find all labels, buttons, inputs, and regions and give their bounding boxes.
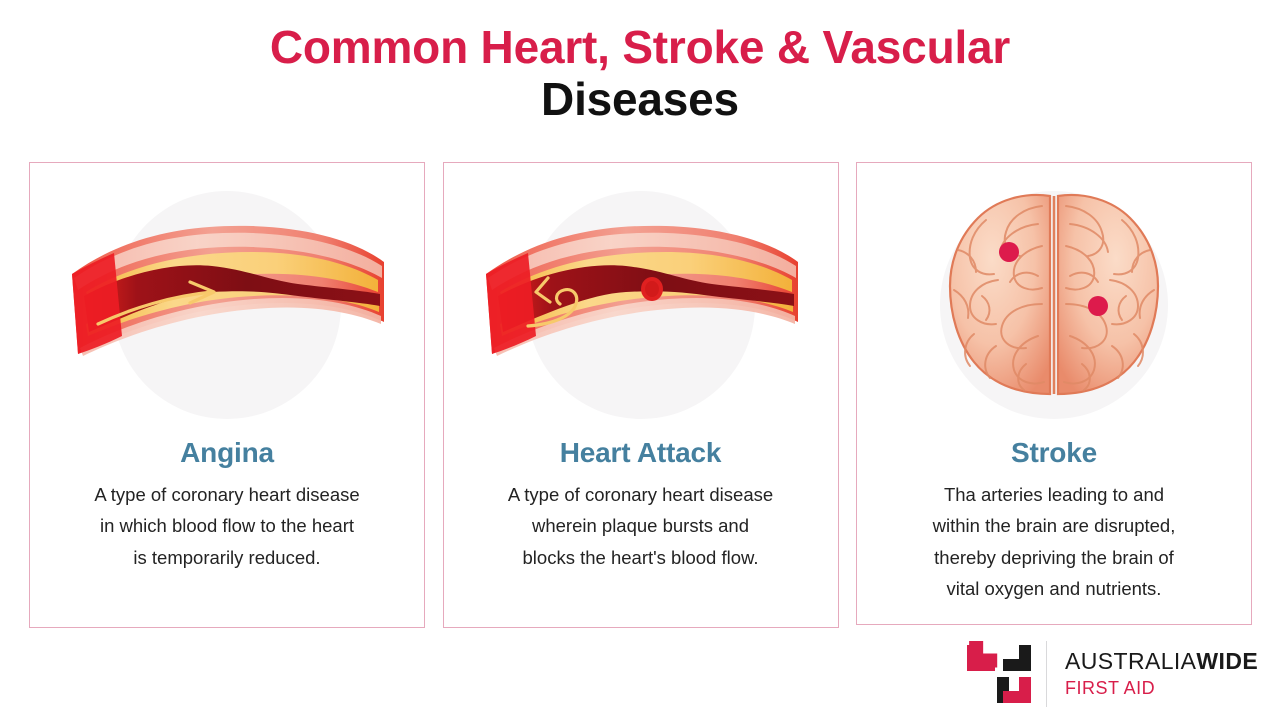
stroke-site-marker <box>1088 296 1108 316</box>
stroke-site-marker <box>999 242 1019 262</box>
logo-wordmark: AUSTRALIAWIDE FIRST AID <box>1065 649 1258 699</box>
card-body-line: A type of coronary heart disease <box>94 479 359 510</box>
disease-card-heart-attack: Heart Attack A type of coronary heart di… <box>443 162 839 628</box>
card-title-stroke: Stroke <box>1011 437 1097 469</box>
card-body-angina: A type of coronary heart disease in whic… <box>76 479 377 573</box>
page-title-line-2: Diseases <box>0 74 1280 126</box>
logo-wide-text: WIDE <box>1196 648 1258 674</box>
card-body-line: wherein plaque bursts and <box>508 510 773 541</box>
card-illustration-angina <box>29 163 425 425</box>
disease-card-angina: Angina A type of coronary heart disease … <box>29 162 425 628</box>
disease-cards-row: Angina A type of coronary heart disease … <box>29 162 1252 629</box>
logo-divider <box>1046 641 1047 707</box>
disease-card-stroke: Stroke Tha arteries leading to and withi… <box>856 162 1252 625</box>
blocked-artery-icon <box>476 204 806 384</box>
narrowed-artery-icon <box>62 204 392 384</box>
brand-logo: AUSTRALIAWIDE FIRST AID <box>966 638 1256 710</box>
card-body-line: thereby depriving the brain of <box>933 542 1176 573</box>
card-body-heart-attack: A type of coronary heart disease wherein… <box>490 479 791 573</box>
card-body-line: blocks the heart's blood flow. <box>508 542 773 573</box>
card-title-angina: Angina <box>180 437 274 469</box>
page-title: Common Heart, Stroke & Vascular Diseases <box>0 22 1280 125</box>
card-body-line: A type of coronary heart disease <box>508 479 773 510</box>
card-body-line: in which blood flow to the heart <box>94 510 359 541</box>
logo-australia-text: AUSTRALIA <box>1065 648 1196 674</box>
card-title-heart-attack: Heart Attack <box>560 437 722 469</box>
card-illustration-stroke <box>856 163 1252 425</box>
card-illustration-heart-attack <box>443 163 839 425</box>
card-body-line: within the brain are disrupted, <box>933 510 1176 541</box>
card-body-line: vital oxygen and nutrients. <box>933 573 1176 604</box>
card-body-line: Tha arteries leading to and <box>933 479 1176 510</box>
card-body-line: is temporarily reduced. <box>94 542 359 573</box>
logo-line-australiawide: AUSTRALIAWIDE <box>1065 649 1258 675</box>
logo-line-first-aid: FIRST AID <box>1065 678 1258 700</box>
brain-icon <box>938 186 1170 402</box>
page-title-line-1: Common Heart, Stroke & Vascular <box>0 22 1280 74</box>
pinwheel-cross-logo-icon <box>966 641 1032 707</box>
card-body-stroke: Tha arteries leading to and within the b… <box>915 479 1194 605</box>
